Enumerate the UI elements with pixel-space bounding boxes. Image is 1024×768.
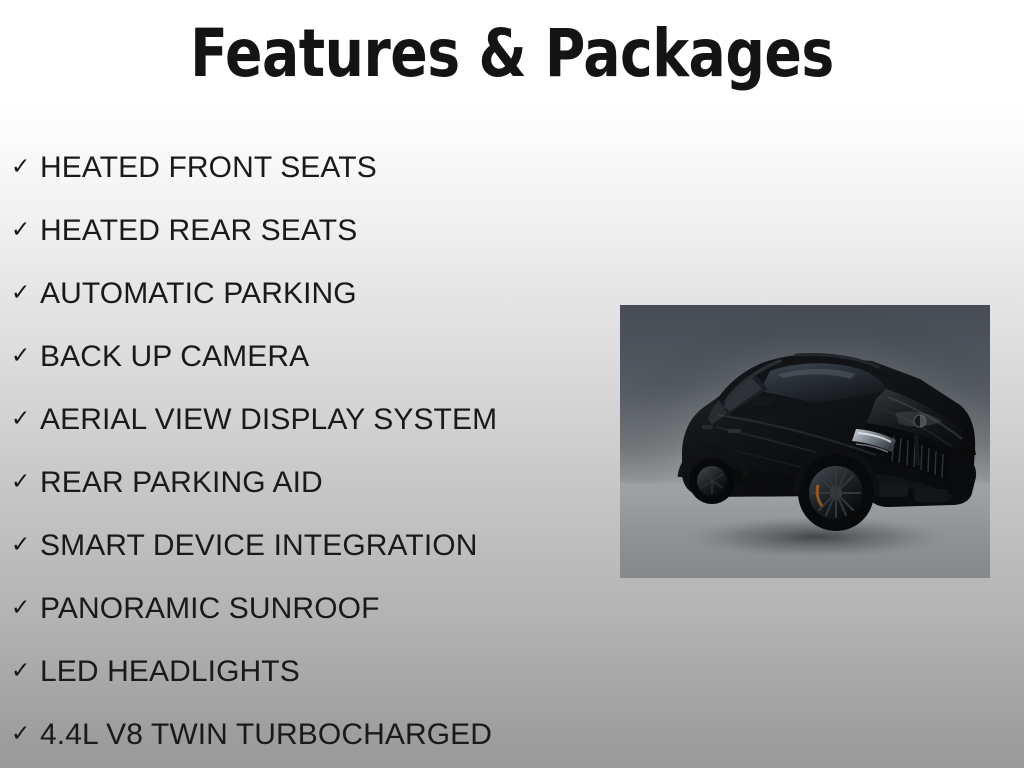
feature-label: 4.4L V8 TWIN TURBOCHARGED: [40, 703, 492, 766]
feature-label: AUTOMATIC PARKING: [40, 262, 357, 325]
check-icon: ✓: [11, 388, 33, 451]
feature-label: REAR PARKING AID: [40, 451, 323, 514]
check-icon: ✓: [11, 451, 33, 514]
feature-label: HEATED FRONT SEATS: [40, 136, 377, 199]
list-item: ✓ LED HEADLIGHTS: [0, 640, 560, 703]
list-item: ✓ HEATED FRONT SEATS: [0, 136, 560, 199]
check-icon: ✓: [11, 514, 33, 577]
page-title: Features & Packages: [36, 17, 988, 91]
feature-label: HEATED REAR SEATS: [40, 199, 357, 262]
list-item: ✓ BACK UP CAMERA: [0, 325, 560, 388]
feature-label: BACK UP CAMERA: [40, 325, 309, 388]
check-icon: ✓: [11, 703, 33, 766]
check-icon: ✓: [11, 577, 33, 640]
list-item: ✓ AERIAL VIEW DISPLAY SYSTEM: [0, 388, 560, 451]
list-item: ✓ AUTOMATIC PARKING: [0, 262, 560, 325]
list-item: ✓ PANORAMIC SUNROOF: [0, 577, 560, 640]
list-item: ✓ 4.4L V8 TWIN TURBOCHARGED: [0, 703, 560, 766]
check-icon: ✓: [11, 199, 33, 262]
slide-canvas: Features & Packages ✓ HEATED FRONT SEATS…: [0, 0, 1024, 768]
feature-label: AERIAL VIEW DISPLAY SYSTEM: [40, 388, 497, 451]
feature-label: SMART DEVICE INTEGRATION: [40, 514, 477, 577]
feature-label: LED HEADLIGHTS: [40, 640, 300, 703]
check-icon: ✓: [11, 262, 33, 325]
list-item: ✓ HEATED REAR SEATS: [0, 199, 560, 262]
check-icon: ✓: [11, 136, 33, 199]
check-icon: ✓: [11, 325, 33, 388]
check-icon: ✓: [11, 640, 33, 703]
vehicle-photo: [620, 305, 990, 578]
list-item: ✓ REAR PARKING AID: [0, 451, 560, 514]
feature-label: PANORAMIC SUNROOF: [40, 577, 380, 640]
list-item: ✓ SMART DEVICE INTEGRATION: [0, 514, 560, 577]
feature-list: ✓ HEATED FRONT SEATS ✓ HEATED REAR SEATS…: [0, 136, 560, 766]
